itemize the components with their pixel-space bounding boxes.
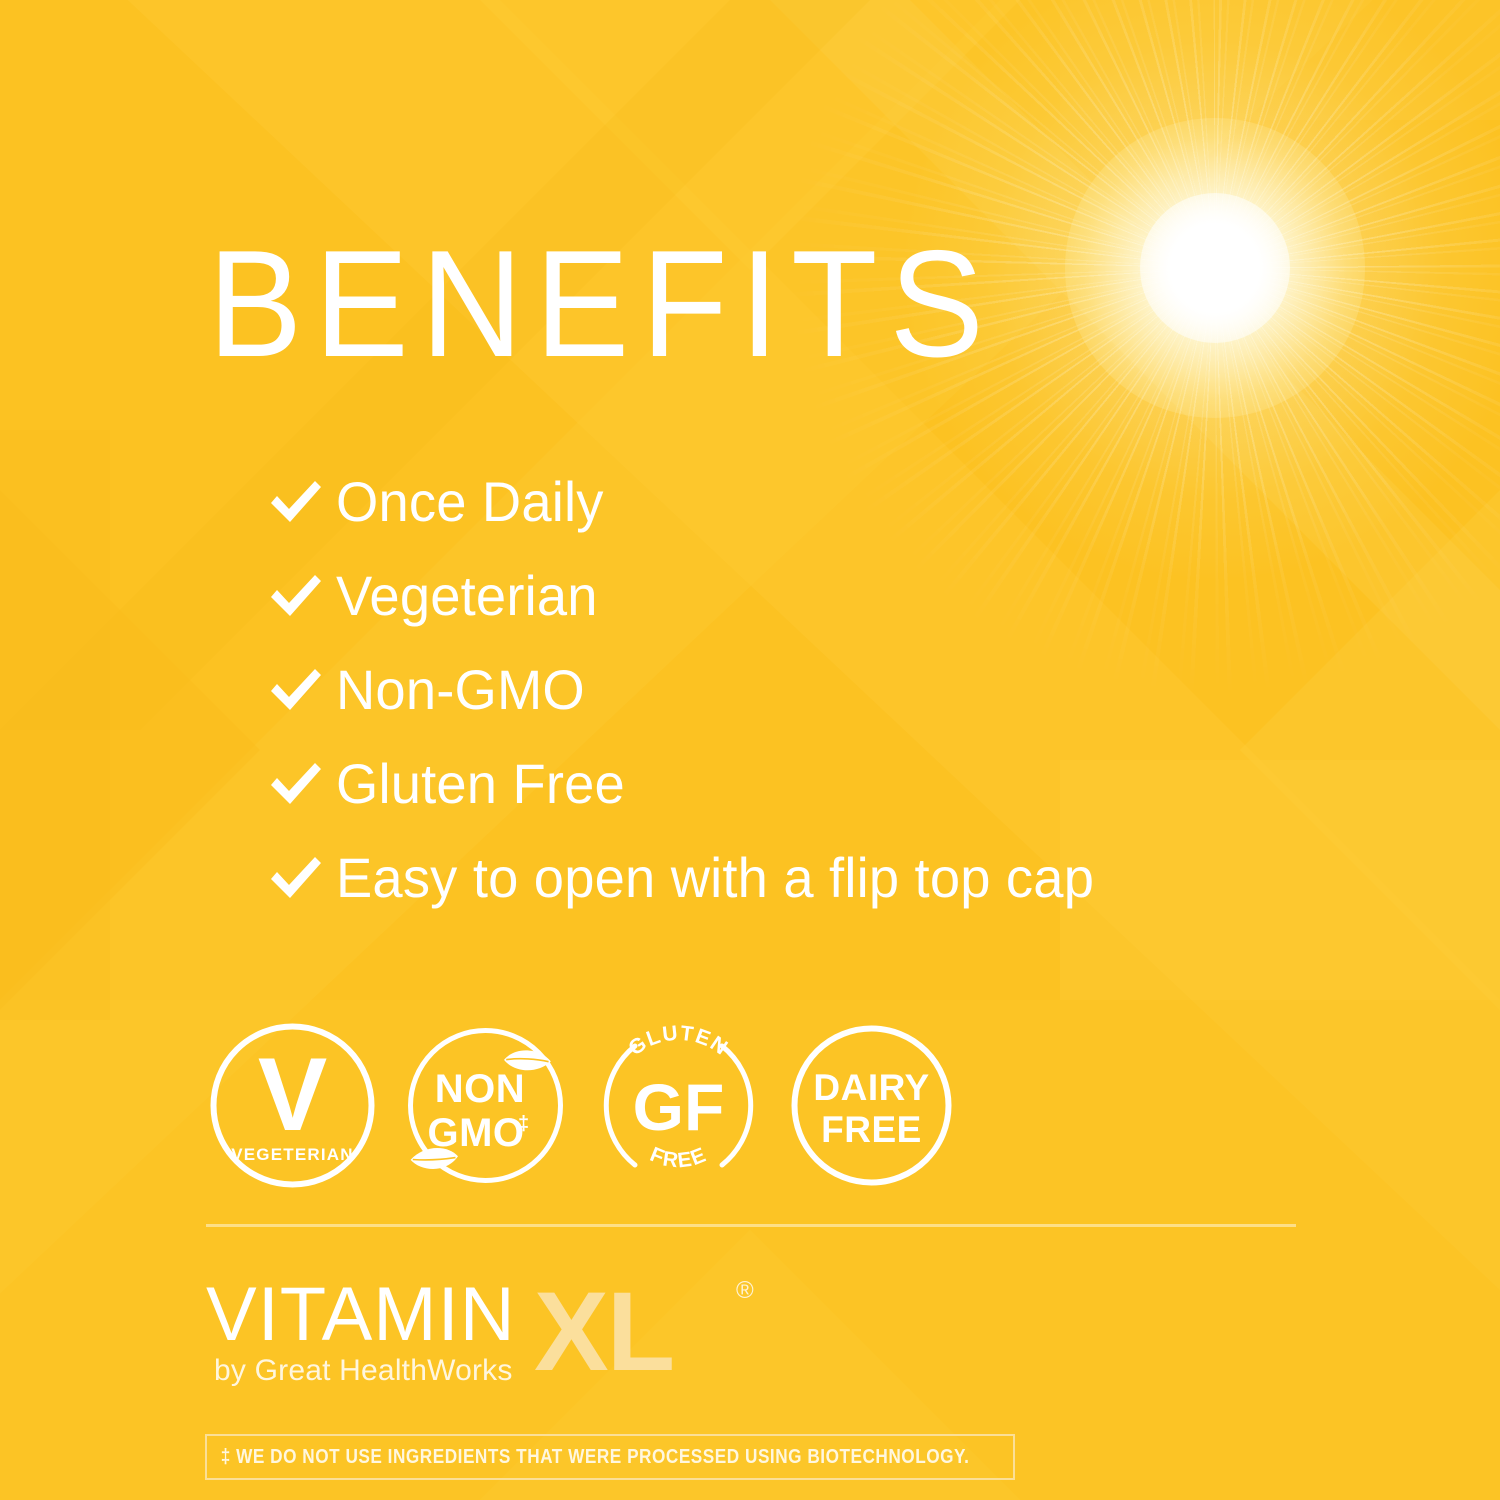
footnote-box: ‡ WE DO NOT USE INGREDIENTS THAT WERE PR…	[205, 1434, 1015, 1480]
trademark-icon: ®	[736, 1277, 754, 1304]
section-divider	[206, 1224, 1296, 1227]
badge-arc-bottom: FREE	[647, 1143, 711, 1172]
check-icon	[268, 667, 336, 713]
check-icon	[268, 855, 336, 901]
benefits-list: Once Daily Vegeterian Non-GMO Gluten Fre…	[268, 455, 1388, 925]
list-item-label: Easy to open with a flip top cap	[336, 850, 1094, 906]
list-item: Non-GMO	[268, 643, 1388, 737]
benefits-panel: BENEFITS Once Daily Vegeterian Non-GMO	[0, 0, 1500, 1500]
badge-mark: V	[258, 1037, 327, 1153]
badge-footnote-mark: ‡	[518, 1113, 529, 1135]
badge-line-1: NON	[435, 1067, 525, 1111]
list-item: Gluten Free	[268, 737, 1388, 831]
badge-caption: VEGETERIAN	[231, 1145, 354, 1164]
list-item-label: Gluten Free	[336, 756, 625, 812]
check-icon	[268, 573, 336, 619]
footnote-text: ‡ WE DO NOT USE INGREDIENTS THAT WERE PR…	[207, 1446, 969, 1469]
check-icon	[268, 479, 336, 525]
list-item-label: Once Daily	[336, 474, 604, 530]
list-item: Easy to open with a flip top cap	[268, 831, 1388, 925]
brand-logo-secondary: XL	[534, 1269, 673, 1394]
list-item: Once Daily	[268, 455, 1388, 549]
list-item: Vegeterian	[268, 549, 1388, 643]
dairy-free-badge: DAIRY FREE	[784, 1018, 959, 1193]
check-icon	[268, 761, 336, 807]
brand-tagline: by Great HealthWorks	[214, 1354, 513, 1387]
list-item-label: Vegeterian	[336, 568, 598, 624]
page-title: BENEFITS	[208, 228, 996, 380]
badge-line-2: FREE	[821, 1109, 922, 1150]
vegeterian-badge: V VEGETERIAN	[205, 1018, 380, 1193]
badge-arc-top: GLUTEN	[624, 1022, 732, 1061]
brand-logo-primary: VITAMIN	[206, 1272, 516, 1357]
certification-badges: V VEGETERIAN	[205, 1018, 959, 1193]
gluten-free-badge: GLUTEN FREE GF	[591, 1018, 766, 1193]
badge-line-1: DAIRY	[813, 1067, 929, 1108]
badge-mark: GF	[633, 1070, 725, 1144]
badge-line-2: GMO	[427, 1111, 524, 1155]
brand-logo: XL VITAMIN ® by Great HealthWorks	[206, 1258, 826, 1408]
list-item-label: Non-GMO	[336, 662, 585, 718]
non-gmo-badge: NON GMO ‡	[398, 1018, 573, 1193]
